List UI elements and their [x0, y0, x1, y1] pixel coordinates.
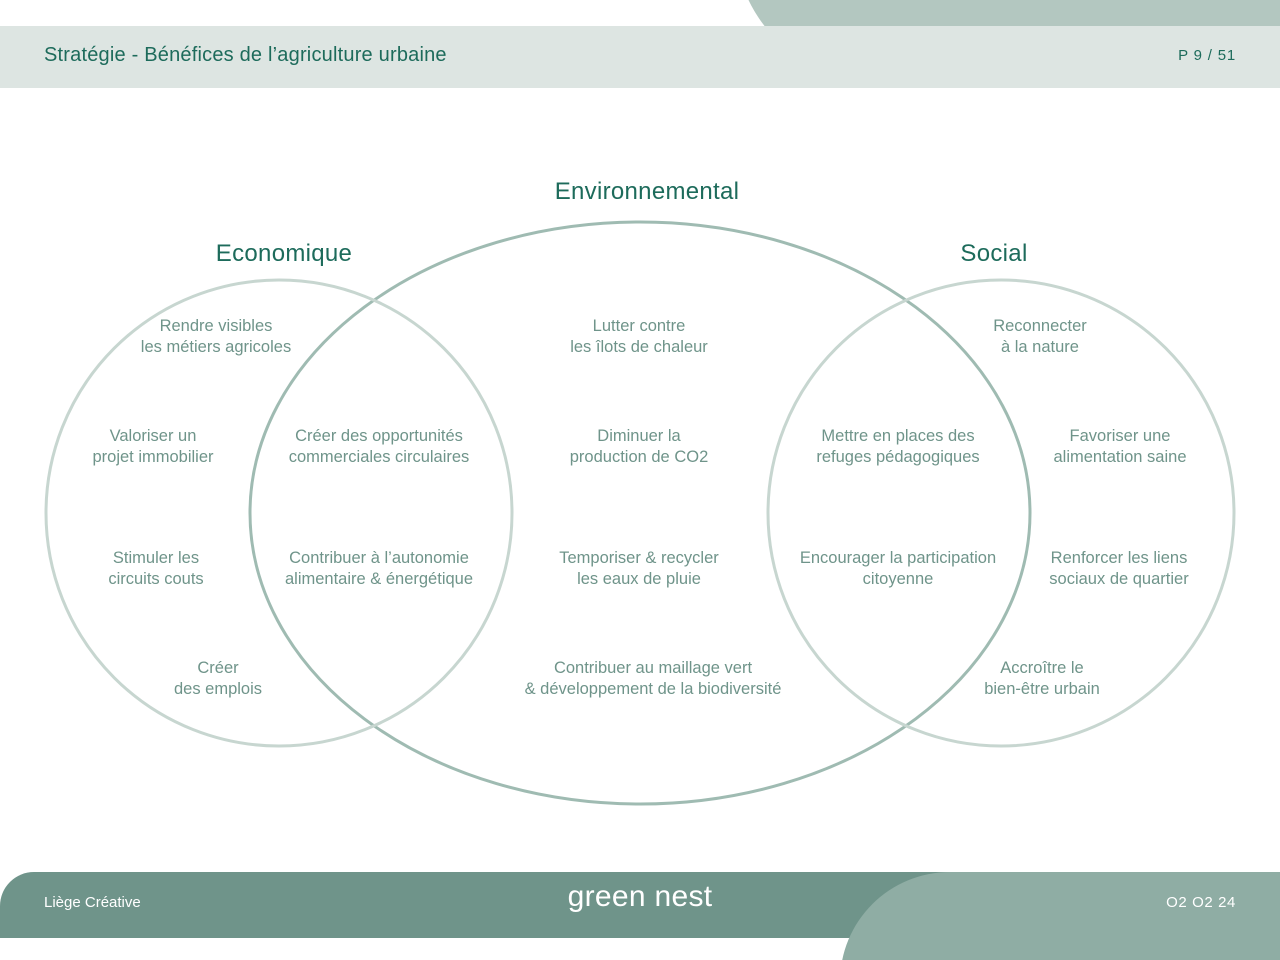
- footer-date: O2 O2 24: [1166, 894, 1236, 911]
- venn-item-economic-2: Valoriser un projet immobilier: [92, 426, 213, 468]
- venn-item-economic-1: Rendre visibles les métiers agricoles: [141, 316, 291, 358]
- venn-item-environmental-3: Temporiser & recycler les eaux de pluie: [559, 548, 719, 590]
- venn-title-social: Social: [960, 240, 1027, 268]
- brand-logo: green nest: [0, 880, 1280, 914]
- venn-item-social-3: Renforcer les liens sociaux de quartier: [1049, 548, 1188, 590]
- venn-item-environmental-2: Diminuer la production de CO2: [570, 426, 709, 468]
- page-title: Stratégie - Bénéfices de l’agriculture u…: [44, 44, 447, 67]
- venn-title-economique: Economique: [216, 240, 352, 268]
- venn-item-social-4: Accroître le bien-être urbain: [984, 658, 1100, 700]
- venn-item-economic-4: Créer des emplois: [174, 658, 262, 700]
- venn-item-economic-environmental-1: Créer des opportunités commerciales circ…: [289, 426, 470, 468]
- venn-item-economic-environmental-2: Contribuer à l’autonomie alimentaire & é…: [285, 548, 473, 590]
- venn-title-environmental: Environnemental: [555, 178, 740, 206]
- venn-item-environmental-1: Lutter contre les îlots de chaleur: [570, 316, 708, 358]
- venn-item-environmental-social-1: Mettre en places des refuges pédagogique…: [816, 426, 979, 468]
- venn-item-environmental-4: Contribuer au maillage vert & développem…: [525, 658, 782, 700]
- page-indicator: P 9 / 51: [1178, 47, 1236, 64]
- venn-item-social-2: Favoriser une alimentation saine: [1054, 426, 1187, 468]
- venn-item-social-1: Reconnecter à la nature: [993, 316, 1087, 358]
- slide-canvas: Stratégie - Bénéfices de l’agriculture u…: [0, 0, 1280, 960]
- venn-item-economic-3: Stimuler les circuits couts: [108, 548, 203, 590]
- venn-item-environmental-social-2: Encourager la participation citoyenne: [800, 548, 996, 590]
